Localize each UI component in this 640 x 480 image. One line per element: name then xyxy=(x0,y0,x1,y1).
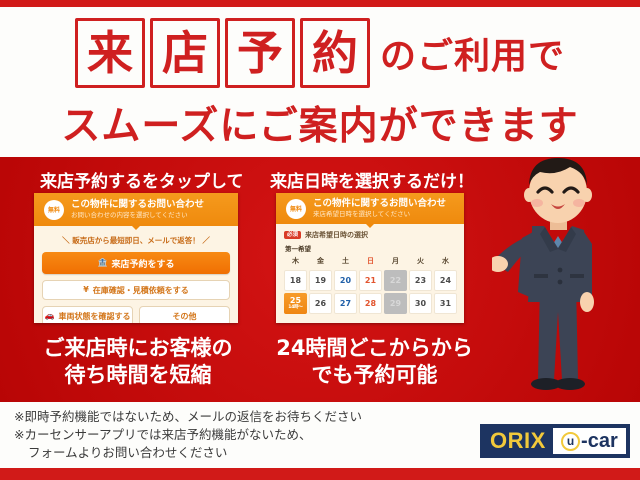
car-wordmark: -car xyxy=(581,431,618,451)
inquiry-header-title: この物件に関するお問い合わせ xyxy=(71,200,204,210)
calendar-weekday-header: 木 xyxy=(284,256,307,268)
store-icon: 🏦 xyxy=(98,259,108,267)
calendar-day-cell[interactable]: 30 xyxy=(409,293,432,314)
calendar-day-number: 18 xyxy=(290,277,301,285)
header-notch xyxy=(131,225,141,230)
headline-line1: 来 店 予 約 のご利用で xyxy=(0,17,640,89)
orix-ucar-logo: ORIX u -car xyxy=(480,424,630,458)
calendar-day-number: 26 xyxy=(315,300,326,308)
calendar-header-texts: この物件に関するお問い合わせ 来店希望日時を選択してください xyxy=(313,199,446,219)
calendar-card: 無料 この物件に関するお問い合わせ 来店希望日時を選択してください 必須 来店希… xyxy=(276,193,464,323)
inquiry-form-card: 無料 この物件に関するお問い合わせ お問い合わせの内容を選択してください ＼ 販… xyxy=(34,193,238,323)
left-panel-caption: 来店予約するをタップして xyxy=(40,167,244,192)
businessman-illustration xyxy=(492,157,627,402)
calendar-day-cell[interactable]: 24 xyxy=(434,270,457,291)
calendar-grid[interactable]: 木金土日月火水181920212223242514時〜262728293031 xyxy=(284,256,457,314)
calendar-weekday-header: 水 xyxy=(434,256,457,268)
calendar-day-cell: 29 xyxy=(384,293,407,314)
kanji-box-1: 来 xyxy=(75,18,145,88)
free-badge: 無料 xyxy=(286,199,306,219)
calendar-body: 必須 来店希望日時の選択 第一希望 木金土日月火水181920212223242… xyxy=(276,224,464,320)
check-vehicle-condition-button[interactable]: 🚗 車両状態を確認する xyxy=(42,306,133,323)
right-benefit-line1: 24時間どこからから xyxy=(276,336,473,360)
calendar-day-number: 30 xyxy=(415,300,426,308)
calendar-day-cell[interactable]: 27 xyxy=(334,293,357,314)
right-benefit-line2: でも予約可能 xyxy=(312,363,438,387)
ucar-wordmark: u -car xyxy=(553,428,626,454)
inquiry-header-texts: この物件に関するお問い合わせ お問い合わせの内容を選択してください xyxy=(71,200,204,220)
calendar-day-number: 19 xyxy=(315,277,326,285)
headline-line2: スムーズにご案内ができます xyxy=(0,95,640,151)
calendar-header-title: この物件に関するお問い合わせ xyxy=(313,199,446,209)
left-benefit-line2: 待ち時間を短縮 xyxy=(65,363,212,387)
calendar-weekday-header: 土 xyxy=(334,256,357,268)
calendar-day-cell[interactable]: 28 xyxy=(359,293,382,314)
left-benefit-line1: ご来店時にお客様の xyxy=(44,336,233,360)
other-label: その他 xyxy=(173,311,197,322)
footer-note-2: ※カーセンサーアプリでは来店予約機能がないため、 xyxy=(14,426,464,444)
stock-quote-label: 在庫確認・見積依頼をする xyxy=(93,285,189,296)
reserve-visit-label: 来店予約をする xyxy=(111,257,174,270)
calendar-day-cell[interactable]: 2514時〜 xyxy=(284,293,307,314)
yen-icon: ¥ xyxy=(83,286,89,294)
preference-label: 第一希望 xyxy=(285,243,457,253)
inquiry-card-header: 無料 この物件に関するお問い合わせ お問い合わせの内容を選択してください xyxy=(34,193,238,226)
other-button[interactable]: その他 xyxy=(139,306,230,323)
calendar-day-number: 21 xyxy=(365,277,376,285)
calendar-card-header: 無料 この物件に関するお問い合わせ 来店希望日時を選択してください xyxy=(276,193,464,224)
headline-tail-text: のご利用で xyxy=(380,27,565,79)
calendar-day-cell[interactable]: 31 xyxy=(434,293,457,314)
calendar-day-number: 20 xyxy=(340,277,351,285)
free-badge: 無料 xyxy=(44,200,64,220)
orix-wordmark: ORIX xyxy=(481,430,553,452)
right-panel-caption: 来店日時を選択するだけ！ xyxy=(270,167,474,192)
calendar-day-number: 27 xyxy=(340,300,351,308)
calendar-weekday-header: 日 xyxy=(359,256,382,268)
calendar-field-label-row: 必須 来店希望日時の選択 xyxy=(284,230,457,240)
calendar-weekday-header: 金 xyxy=(309,256,332,268)
calendar-day-cell[interactable]: 18 xyxy=(284,270,307,291)
calendar-day-number: 23 xyxy=(415,277,426,285)
calendar-field-label: 来店希望日時の選択 xyxy=(305,230,368,240)
footer-notes: ※即時予約機能ではないため、メールの返信をお待ちください ※カーセンサーアプリで… xyxy=(14,408,464,462)
calendar-weekday-header: 月 xyxy=(384,256,407,268)
u-circle-icon: u xyxy=(561,432,580,451)
calendar-day-time: 14時〜 xyxy=(288,306,302,311)
header-notch xyxy=(365,223,375,228)
promo-line: ＼ 販売店から最短即日、メールで返答！ ／ xyxy=(42,235,230,246)
kanji-box-3: 予 xyxy=(225,18,295,88)
calendar-day-cell[interactable]: 20 xyxy=(334,270,357,291)
calendar-day-number: 29 xyxy=(390,300,401,308)
right-benefit-caption: 24時間どこからから でも予約可能 xyxy=(262,335,487,389)
calendar-weekday-header: 火 xyxy=(409,256,432,268)
car-icon: 🚗 xyxy=(45,312,55,320)
calendar-day-cell[interactable]: 26 xyxy=(309,293,332,314)
left-benefit-caption: ご来店時にお客様の 待ち時間を短縮 xyxy=(18,335,258,389)
calendar-header-subtitle: 来店希望日時を選択してください xyxy=(313,211,446,218)
kanji-box-4: 約 xyxy=(300,18,370,88)
calendar-day-number: 22 xyxy=(390,277,401,285)
calendar-day-number: 28 xyxy=(365,300,376,308)
inquiry-header-subtitle: お問い合わせの内容を選択してください xyxy=(71,212,204,219)
calendar-day-cell[interactable]: 21 xyxy=(359,270,382,291)
calendar-day-cell[interactable]: 23 xyxy=(409,270,432,291)
calendar-day-cell[interactable]: 19 xyxy=(309,270,332,291)
secondary-button-row: 🚗 車両状態を確認する その他 xyxy=(42,306,230,323)
reserve-visit-button[interactable]: 🏦 来店予約をする xyxy=(42,252,230,274)
advertisement-banner: 来 店 予 約 のご利用で スムーズにご案内ができます 来店予約するをタップして… xyxy=(0,0,640,480)
calendar-day-cell: 22 xyxy=(384,270,407,291)
bottom-accent-bar xyxy=(0,468,640,480)
calendar-day-number: 24 xyxy=(440,277,451,285)
headline-block: 来 店 予 約 のご利用で スムーズにご案内ができます xyxy=(0,7,640,157)
kanji-box-2: 店 xyxy=(150,18,220,88)
required-badge: 必須 xyxy=(284,231,301,240)
footer-note-1: ※即時予約機能ではないため、メールの返信をお待ちください xyxy=(14,408,464,426)
check-vehicle-condition-label: 車両状態を確認する xyxy=(58,311,130,322)
footer-note-3: フォームよりお問い合わせください xyxy=(14,444,464,462)
calendar-day-number: 25 xyxy=(290,297,301,305)
calendar-day-number: 31 xyxy=(440,300,451,308)
top-accent-bar xyxy=(0,0,640,7)
inquiry-card-body: ＼ 販売店から最短即日、メールで返答！ ／ 🏦 来店予約をする ¥ 在庫確認・見… xyxy=(34,226,238,323)
feature-panel: 来店予約するをタップして 来店日時を選択するだけ！ 無料 この物件に関するお問い… xyxy=(0,157,640,402)
stock-quote-button[interactable]: ¥ 在庫確認・見積依頼をする xyxy=(42,280,230,300)
